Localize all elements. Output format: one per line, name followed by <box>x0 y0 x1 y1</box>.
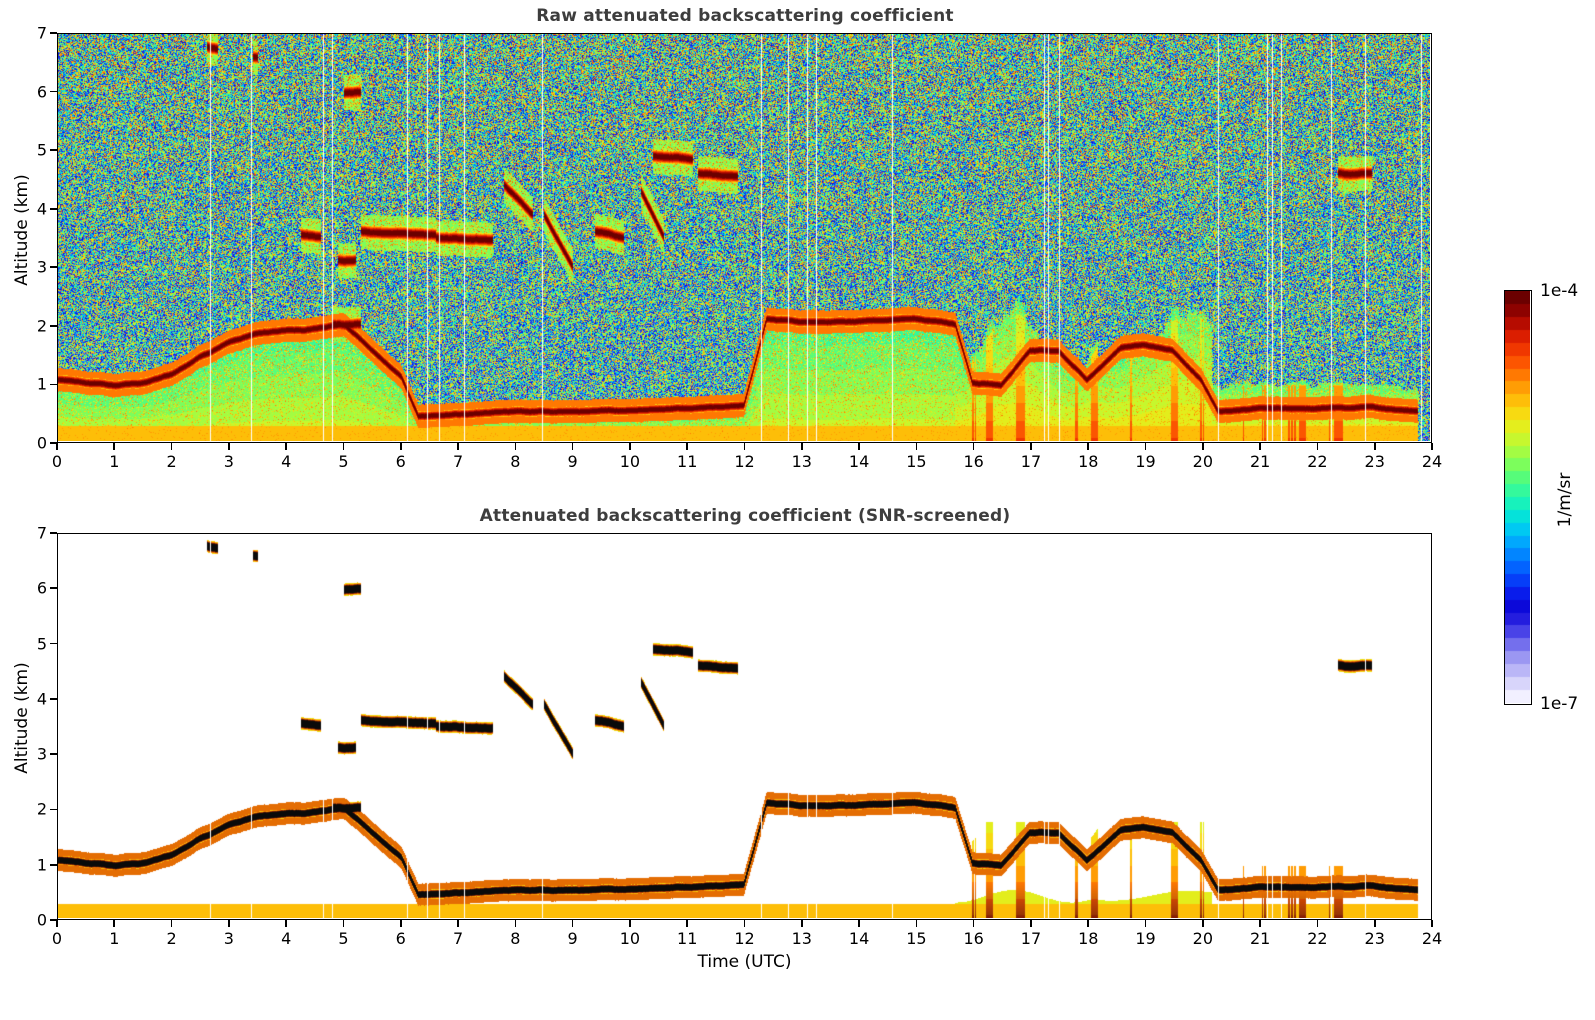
x-tick-label: 19 <box>1135 452 1155 471</box>
y-tick <box>50 919 57 921</box>
panel-screened: Attenuated backscattering coefficient (S… <box>0 500 1595 1020</box>
y-tick <box>50 532 57 534</box>
x-tick <box>973 443 975 450</box>
x-tick <box>744 920 746 927</box>
colorbar-min-label: 1e-7 <box>1540 694 1578 714</box>
x-tick-label: 7 <box>453 929 463 948</box>
x-tick <box>1317 443 1319 450</box>
x-tick-label: 22 <box>1307 929 1327 948</box>
x-tick <box>572 443 574 450</box>
x-tick-label: 9 <box>568 929 578 948</box>
x-tick-label: 22 <box>1307 452 1327 471</box>
x-tick <box>629 920 631 927</box>
x-tick-label: 18 <box>1078 929 1098 948</box>
panel-screened-title: Attenuated backscattering coefficient (S… <box>0 506 1490 526</box>
x-tick <box>285 443 287 450</box>
y-tick-label: 7 <box>13 24 47 43</box>
x-tick-label: 3 <box>224 452 234 471</box>
y-tick <box>50 809 57 811</box>
y-tick-label: 1 <box>13 855 47 874</box>
x-tick <box>686 920 688 927</box>
x-tick-label: 12 <box>734 452 754 471</box>
y-tick-label: 3 <box>13 745 47 764</box>
x-tick-label: 9 <box>568 452 578 471</box>
screened-heatmap-canvas <box>58 534 1430 918</box>
x-tick <box>1030 920 1032 927</box>
x-tick-label: 2 <box>166 452 176 471</box>
x-tick-label: 15 <box>906 452 926 471</box>
x-tick <box>113 443 115 450</box>
x-tick <box>1431 920 1433 927</box>
x-tick-label: 8 <box>510 929 520 948</box>
x-tick <box>113 920 115 927</box>
y-tick-label: 6 <box>13 579 47 598</box>
x-tick <box>1145 443 1147 450</box>
x-tick <box>916 443 918 450</box>
y-tick <box>50 266 57 268</box>
x-tick-label: 5 <box>338 452 348 471</box>
y-tick-label: 6 <box>13 82 47 101</box>
x-tick-label: 24 <box>1422 452 1442 471</box>
x-tick-label: 6 <box>396 452 406 471</box>
x-tick <box>343 920 345 927</box>
y-tick <box>50 753 57 755</box>
screened-plot-area[interactable] <box>57 533 1432 920</box>
x-tick-label: 1 <box>109 452 119 471</box>
y-tick-label: 3 <box>13 258 47 277</box>
x-tick-label: 23 <box>1365 452 1385 471</box>
x-tick <box>1317 920 1319 927</box>
y-tick-label: 1 <box>13 375 47 394</box>
x-tick <box>1374 920 1376 927</box>
x-tick-label: 11 <box>677 452 697 471</box>
x-tick <box>1087 920 1089 927</box>
x-tick-label: 19 <box>1135 929 1155 948</box>
x-tick-label: 15 <box>906 929 926 948</box>
x-tick <box>686 443 688 450</box>
x-tick <box>228 443 230 450</box>
x-tick-label: 8 <box>510 452 520 471</box>
x-tick-label: 23 <box>1365 929 1385 948</box>
x-tick <box>1145 920 1147 927</box>
x-tick <box>56 920 58 927</box>
x-tick-label: 7 <box>453 452 463 471</box>
x-tick-label: 4 <box>281 929 291 948</box>
y-tick-label: 7 <box>13 524 47 543</box>
y-tick-label: 5 <box>13 634 47 653</box>
y-tick <box>50 384 57 386</box>
x-tick <box>572 920 574 927</box>
colorbar[interactable] <box>1504 290 1532 705</box>
x-tick-label: 1 <box>109 929 119 948</box>
y-tick-label: 5 <box>13 141 47 160</box>
x-tick <box>515 443 517 450</box>
y-tick <box>50 643 57 645</box>
x-tick-label: 17 <box>1021 929 1041 948</box>
x-tick <box>171 443 173 450</box>
x-tick <box>1259 920 1261 927</box>
x-tick <box>1374 443 1376 450</box>
x-tick <box>285 920 287 927</box>
x-tick <box>858 920 860 927</box>
y-tick <box>50 587 57 589</box>
y-tick <box>50 91 57 93</box>
x-tick <box>1030 443 1032 450</box>
x-tick <box>916 920 918 927</box>
x-tick <box>1202 443 1204 450</box>
x-tick-label: 18 <box>1078 452 1098 471</box>
raw-plot-area[interactable] <box>57 33 1432 443</box>
x-tick <box>228 920 230 927</box>
x-tick-label: 0 <box>52 929 62 948</box>
x-tick-label: 14 <box>849 929 869 948</box>
x-tick-label: 12 <box>734 929 754 948</box>
x-tick-label: 13 <box>792 929 812 948</box>
screened-y-axis-label: Altitude (km) <box>12 638 32 798</box>
x-tick <box>56 443 58 450</box>
x-tick-label: 4 <box>281 452 291 471</box>
y-tick <box>50 442 57 444</box>
x-tick-label: 21 <box>1250 452 1270 471</box>
panel-raw-title: Raw attenuated backscattering coefficien… <box>0 6 1490 26</box>
x-tick <box>1431 443 1433 450</box>
y-tick <box>50 149 57 151</box>
x-tick <box>973 920 975 927</box>
x-tick-label: 13 <box>792 452 812 471</box>
x-tick <box>801 920 803 927</box>
raw-heatmap-canvas <box>58 34 1430 441</box>
x-tick <box>1259 443 1261 450</box>
x-tick-label: 11 <box>677 929 697 948</box>
x-tick-label: 3 <box>224 929 234 948</box>
colorbar-max-label: 1e-4 <box>1540 281 1578 301</box>
colorbar-unit-label: 1/m/sr <box>1555 440 1575 560</box>
x-tick <box>1087 443 1089 450</box>
y-tick-label: 0 <box>13 434 47 453</box>
x-tick-label: 16 <box>963 452 983 471</box>
x-tick-label: 21 <box>1250 929 1270 948</box>
x-tick-label: 2 <box>166 929 176 948</box>
x-tick-label: 20 <box>1193 929 1213 948</box>
y-tick-label: 0 <box>13 911 47 930</box>
y-tick-label: 4 <box>13 199 47 218</box>
x-tick-label: 5 <box>338 929 348 948</box>
x-tick-label: 10 <box>620 929 640 948</box>
x-tick-label: 20 <box>1193 452 1213 471</box>
x-tick <box>629 443 631 450</box>
y-tick-label: 4 <box>13 689 47 708</box>
y-tick <box>50 208 57 210</box>
y-tick <box>50 32 57 34</box>
x-tick <box>801 443 803 450</box>
panel-raw: Raw attenuated backscattering coefficien… <box>0 0 1595 500</box>
x-tick <box>343 443 345 450</box>
x-tick-label: 6 <box>396 929 406 948</box>
x-tick-label: 17 <box>1021 452 1041 471</box>
raw-y-axis-label: Altitude (km) <box>12 150 32 310</box>
x-tick-label: 10 <box>620 452 640 471</box>
x-tick <box>457 920 459 927</box>
x-tick <box>858 443 860 450</box>
y-tick <box>50 325 57 327</box>
x-tick <box>400 443 402 450</box>
x-tick <box>1202 920 1204 927</box>
x-tick <box>400 920 402 927</box>
x-tick <box>744 443 746 450</box>
screened-x-axis-label: Time (UTC) <box>57 952 1432 972</box>
x-tick-label: 16 <box>963 929 983 948</box>
x-tick <box>171 920 173 927</box>
x-tick-label: 0 <box>52 452 62 471</box>
x-tick-label: 24 <box>1422 929 1442 948</box>
x-tick-label: 14 <box>849 452 869 471</box>
x-tick <box>457 443 459 450</box>
y-tick <box>50 698 57 700</box>
y-tick-label: 2 <box>13 800 47 819</box>
y-tick <box>50 864 57 866</box>
colorbar-gradient <box>1505 291 1530 703</box>
x-tick <box>515 920 517 927</box>
y-tick-label: 2 <box>13 316 47 335</box>
